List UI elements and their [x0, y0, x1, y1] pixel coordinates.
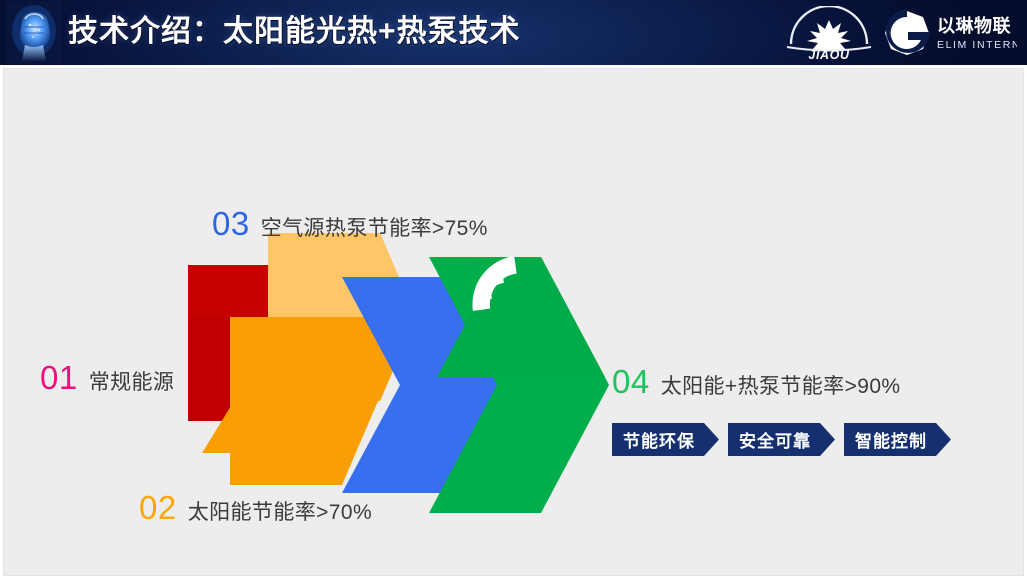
feature-tag-group: 节能环保 安全可靠 智能控制 [612, 423, 951, 456]
feature-tag-3: 智能控制 [844, 423, 951, 456]
page-title: 技术介绍：太阳能光热+热泵技术 [68, 0, 521, 65]
feature-tag-2: 安全可靠 [728, 423, 835, 456]
feature-tag-1: 节能环保 [612, 423, 719, 456]
step-label-01: 01 常规能源 [40, 359, 174, 397]
slide: 技术介绍：太阳能光热+热泵技术 JIAOU 以琳物联 ELIM INTERNET [0, 0, 1027, 579]
step-number-02: 02 [139, 489, 177, 527]
step-number-01: 01 [40, 359, 78, 397]
slide-header: 技术介绍：太阳能光热+热泵技术 JIAOU 以琳物联 ELIM INTERNET [0, 0, 1027, 65]
step-number-04: 04 [612, 363, 650, 401]
step-label-04: 04 太阳能+热泵节能率>90% [612, 363, 900, 401]
step-label-02: 02 太阳能节能率>70% [139, 489, 372, 527]
jiaou-logo: JIAOU [783, 6, 875, 60]
svg-text:ELIM INTERNET: ELIM INTERNET [937, 39, 1017, 51]
elim-logo: 以琳物联 ELIM INTERNET [885, 8, 1017, 58]
slide-body: 01 常规能源 02 太阳能节能率>70% 03 空气源热泵节能率>75% 04… [3, 68, 1024, 576]
step-text-01: 常规能源 [89, 366, 175, 396]
step-text-04: 太阳能+热泵节能率>90% [661, 370, 901, 400]
step-number-03: 03 [212, 205, 250, 243]
step-text-02: 太阳能节能率>70% [188, 496, 372, 526]
fist-icon [6, 1, 62, 64]
step-text-03: 空气源热泵节能率>75% [261, 212, 488, 242]
svg-text:JIAOU: JIAOU [808, 48, 850, 60]
svg-text:以琳物联: 以琳物联 [937, 15, 1011, 36]
step-label-03: 03 空气源热泵节能率>75% [212, 205, 488, 243]
